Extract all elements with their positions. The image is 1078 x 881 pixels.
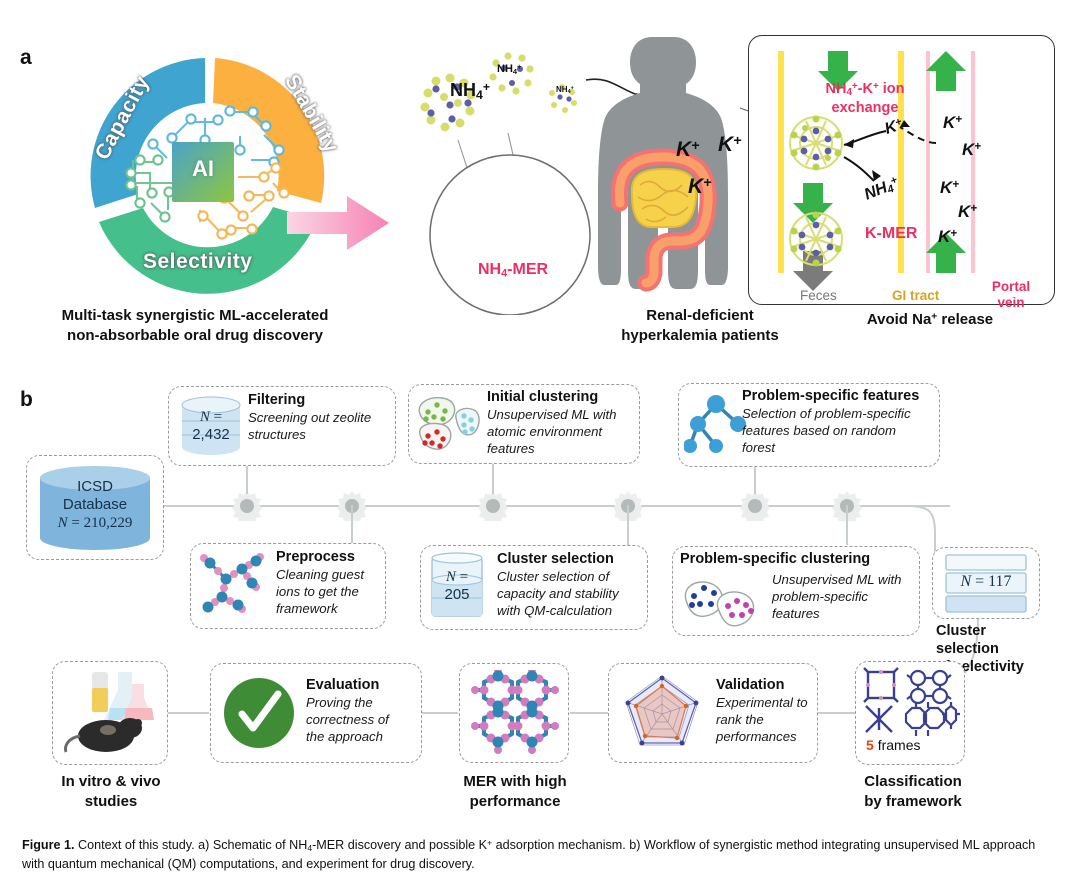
vein-k-2: K+ — [962, 140, 981, 160]
green-arrow-up-top — [926, 51, 966, 91]
stem-initial-clustering — [492, 464, 494, 494]
cluster-selection-n: N = 205 — [426, 568, 488, 604]
panel-a-right-caption: Avoid Na+ release — [830, 310, 1030, 330]
left-caption-line2: non-absorbable oral drug discovery — [30, 326, 360, 346]
initial-clustering-desc: Unsupervised ML with atomic environment … — [487, 407, 635, 458]
mer-cluster-top — [790, 116, 842, 171]
cluster-selection-desc: Cluster selection of capacity and stabil… — [497, 569, 643, 620]
icsd-name-line1: ICSD — [34, 478, 156, 496]
mouse-flask-icon — [62, 668, 160, 758]
pink-arrow-icon — [285, 190, 395, 260]
feces-label: Feces — [800, 288, 837, 303]
row2-link-1 — [167, 712, 209, 714]
green-check-icon — [222, 676, 296, 750]
radar-chart-icon — [616, 670, 708, 756]
psc-title: Problem-specific clustering — [680, 551, 870, 568]
vein-wall-right — [971, 51, 975, 273]
preprocess-desc: Cleaning guest ions to get the framework — [276, 567, 382, 618]
stem-cluster-selection — [627, 505, 629, 545]
human-body-icon — [580, 35, 765, 320]
left-caption-line1: Multi-task synergistic ML-accelerated — [30, 306, 360, 326]
ai-chip-label: AI — [186, 156, 220, 182]
cluster-blobs-icon — [412, 392, 482, 458]
validation-title: Validation — [716, 677, 785, 694]
evaluation-title: Evaluation — [306, 677, 379, 694]
kmer-label: K-MER — [865, 225, 917, 243]
middle-caption-line2: hyperkalemia patients — [600, 326, 800, 346]
psf-title: Problem-specific features — [742, 388, 919, 405]
mer-caption: MER with high performance — [440, 772, 590, 811]
k-ion-body-1: K+ — [676, 138, 700, 162]
classification-caption: Classification by framework — [838, 772, 988, 811]
preprocess-title: Preprocess — [276, 549, 355, 566]
mer-framework-icon — [468, 670, 560, 756]
validation-desc: Experimental to rank the performances — [716, 695, 816, 746]
stem-preprocess — [351, 505, 353, 543]
row2-link-2 — [420, 712, 458, 714]
nh4-particle-label-mid: NH4+ — [497, 62, 521, 76]
icsd-n-label: N = 210,229 — [34, 514, 156, 532]
icsd-labels: ICSD Database N = 210,229 — [34, 478, 156, 532]
nh4-particle-label-large: NH4+ — [450, 80, 490, 102]
evaluation-desc: Proving the correctness of the approach — [306, 695, 410, 746]
workflow-node-3 — [478, 491, 508, 521]
stem-psf — [754, 466, 756, 494]
portal-vein-label: Portal vein — [976, 279, 1046, 311]
nh4-particle-label-small: NH4+ — [556, 85, 574, 95]
green-arrow-down-mid — [793, 183, 833, 223]
row2-link-3 — [570, 712, 608, 714]
panel-a-left-caption: Multi-task synergistic ML-accelerated no… — [30, 306, 360, 347]
panel-a-letter: a — [20, 46, 32, 70]
vein-k-3: K+ — [940, 178, 959, 198]
icsd-name-line2: Database — [34, 496, 156, 514]
row2-link-4 — [818, 712, 856, 714]
k-ion-body-3: K+ — [688, 175, 712, 199]
caption-body: Context of this study. a) Schematic of N… — [22, 838, 1035, 871]
gi-tract-label: GI tract — [892, 288, 939, 303]
psf-desc: Selection of problem-specific features b… — [742, 406, 932, 457]
frames-count-label: 5 frames — [866, 737, 920, 753]
middle-caption-line1: Renal-deficient — [600, 306, 800, 326]
ai-wheel: AI Capacity Stability Selectivity — [55, 40, 355, 300]
vein-k-4: K+ — [958, 202, 977, 222]
figure-caption: Figure 1. Context of this study. a) Sche… — [22, 836, 1056, 874]
vein-k-1: K+ — [943, 113, 962, 133]
molecule-icon — [196, 549, 270, 623]
stem-filtering — [246, 466, 248, 494]
cluster-ellipses-icon — [680, 574, 766, 634]
filtering-n: N = 2,432 — [178, 408, 244, 444]
ion-exchange-svg — [748, 35, 1053, 303]
stem-psc — [846, 505, 848, 545]
grey-arrow-feces — [793, 251, 833, 291]
filtering-n-value: 2,432 — [178, 426, 244, 444]
invitro-caption: In vitro & vivo studies — [38, 772, 184, 811]
gi-wall-left — [778, 51, 784, 273]
workflow-node-5 — [740, 491, 770, 521]
psc-desc: Unsupervised ML with problem-specific fe… — [772, 572, 912, 623]
cluster-selection-n-value: 205 — [426, 586, 488, 604]
workflow-node-1 — [232, 491, 262, 521]
arrow-k-from-vein — [900, 127, 936, 143]
frameworks-icon — [862, 666, 960, 738]
filtering-desc: Screening out zeolite structures — [248, 410, 388, 444]
k-ion-body-2: K+ — [718, 133, 742, 157]
selectivity-n-label: N = 117 — [944, 572, 1028, 591]
filtering-title: Filtering — [248, 392, 305, 409]
panel-a-middle-caption: Renal-deficient hyperkalemia patients — [600, 306, 800, 347]
arc-label-selectivity: Selectivity — [143, 250, 252, 274]
cluster-selection-title: Cluster selection — [497, 551, 614, 568]
nh4-mer-label: NH4-MER — [478, 261, 548, 279]
initial-clustering-title: Initial clustering — [487, 389, 598, 406]
vein-k-5: K+ — [938, 227, 957, 247]
caption-bold: Figure 1. — [22, 838, 74, 852]
panel-b-letter: b — [20, 388, 33, 412]
arrow-nh4-out — [844, 157, 874, 181]
ion-exchange-label: NH4+-K+ ionexchange — [800, 80, 930, 118]
